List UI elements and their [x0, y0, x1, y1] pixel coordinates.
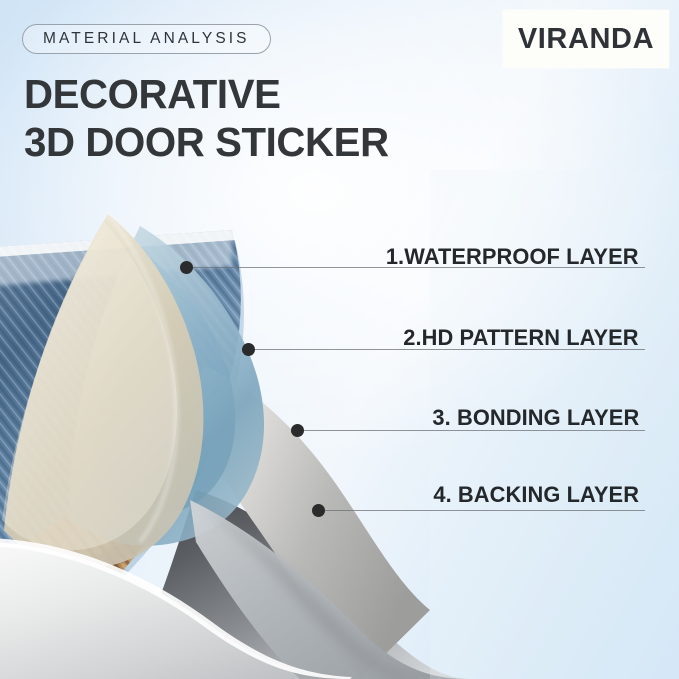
callout-dot-icon-1 — [180, 261, 193, 274]
callout-label-text-3: 3. BONDING LAYER — [432, 405, 639, 431]
badge-label: MATERIAL ANALYSIS — [43, 30, 250, 48]
title-line-2: 3D DOOR STICKER — [24, 118, 485, 166]
callout-dot-icon-2 — [242, 343, 255, 356]
callout-label-text-2: 2.HD PATTERN LAYER — [404, 325, 639, 351]
material-analysis-badge: MATERIAL ANALYSIS — [22, 24, 271, 54]
callout-label-3: 3. BONDING LAYER — [426, 405, 639, 431]
page-title: DECORATIVE 3D DOOR STICKER — [24, 70, 494, 167]
material-analysis-infographic: MATERIAL ANALYSIS VIRANDA DECORATIVE 3D … — [0, 0, 679, 679]
callout-dot-icon-4 — [312, 504, 325, 517]
title-line-1: DECORATIVE — [24, 70, 485, 118]
callout-label-4: 4. BACKING LAYER — [427, 482, 639, 508]
leader-line-4 — [324, 510, 645, 511]
callout-dot-icon-3 — [291, 424, 304, 437]
brand-name: VIRANDA — [518, 23, 654, 56]
callout-label-1: 1.WATERPROOF LAYER — [378, 244, 639, 270]
callout-label-text-1: 1.WATERPROOF LAYER — [386, 244, 639, 270]
callout-label-2: 2.HD PATTERN LAYER — [396, 325, 639, 351]
brand-logo-box: VIRANDA — [503, 10, 669, 68]
callout-label-text-4: 4. BACKING LAYER — [433, 482, 639, 508]
